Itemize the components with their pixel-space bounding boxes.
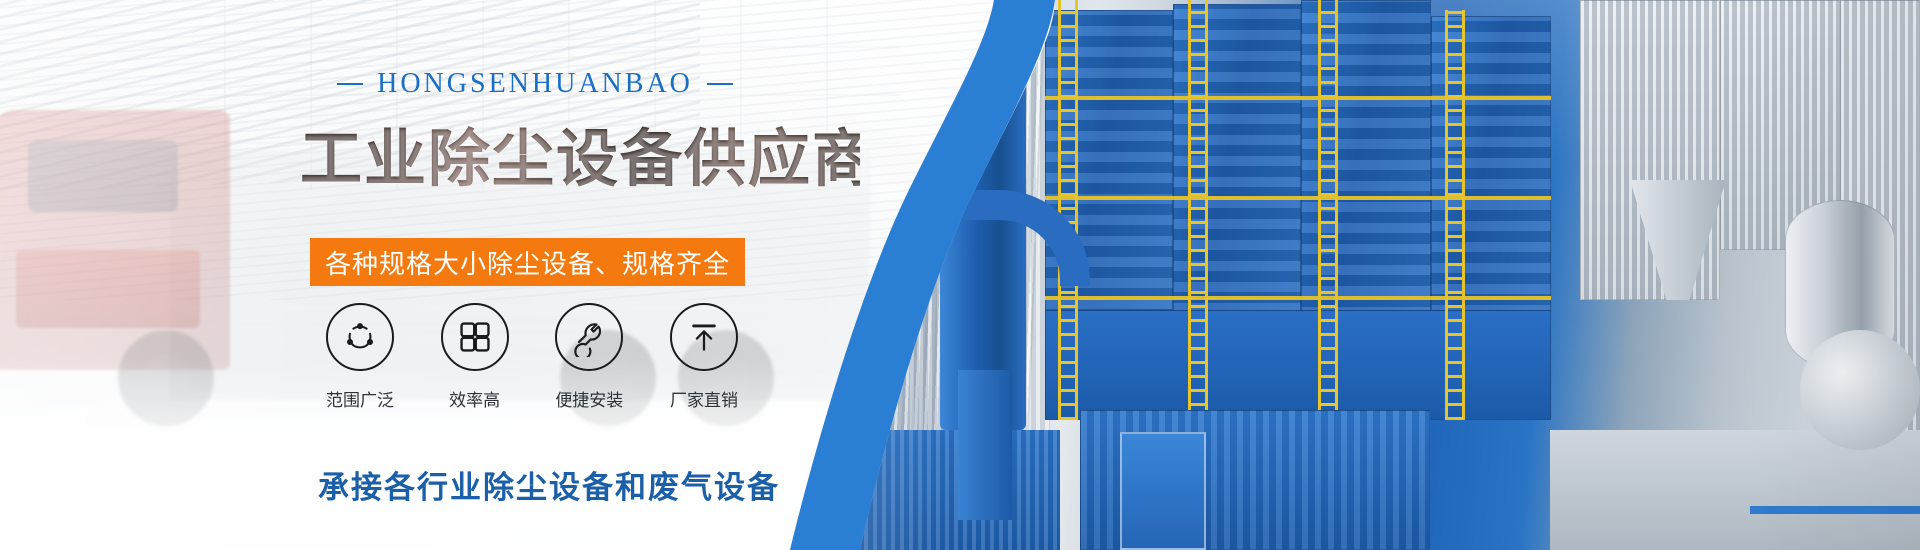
banner-content: HONGSENHUANBAO 工业除尘设备供应商 各种规格大小除尘设备、规格齐全 [0, 0, 1000, 550]
feature-item-factory-direct[interactable]: 厂家直销 [656, 303, 752, 411]
eyebrow-dash-right [707, 83, 733, 85]
eyebrow-row: HONGSENHUANBAO [325, 68, 745, 100]
feature-label: 效率高 [449, 386, 500, 411]
eyebrow-dash-left [337, 83, 363, 85]
eyebrow-text: HONGSENHUANBAO [377, 68, 693, 100]
tagline-text: 承接各行业除尘设备和废气设备 [318, 462, 780, 507]
hero-banner: HONGSENHUANBAO 工业除尘设备供应商 各种规格大小除尘设备、规格齐全 [0, 0, 1920, 550]
feature-label: 范围广泛 [326, 386, 394, 411]
network-nodes-icon [326, 303, 394, 371]
grid-four-squares-icon [441, 303, 509, 371]
feature-item-high-efficiency[interactable]: 效率高 [427, 303, 523, 411]
subtitle-badge: 各种规格大小除尘设备、规格齐全 [310, 238, 745, 286]
page-title: 工业除尘设备供应商 [300, 108, 860, 198]
feature-item-wide-range[interactable]: 范围广泛 [312, 303, 408, 411]
up-arrow-bar-icon [670, 303, 738, 371]
feature-label: 厂家直销 [670, 386, 738, 411]
feature-list: 范围广泛 效率高 [312, 303, 752, 411]
wrench-icon [555, 303, 623, 371]
feature-item-easy-install[interactable]: 便捷安装 [541, 303, 637, 411]
feature-label: 便捷安装 [555, 386, 623, 411]
subtitle-text: 各种规格大小除尘设备、规格齐全 [325, 244, 730, 281]
